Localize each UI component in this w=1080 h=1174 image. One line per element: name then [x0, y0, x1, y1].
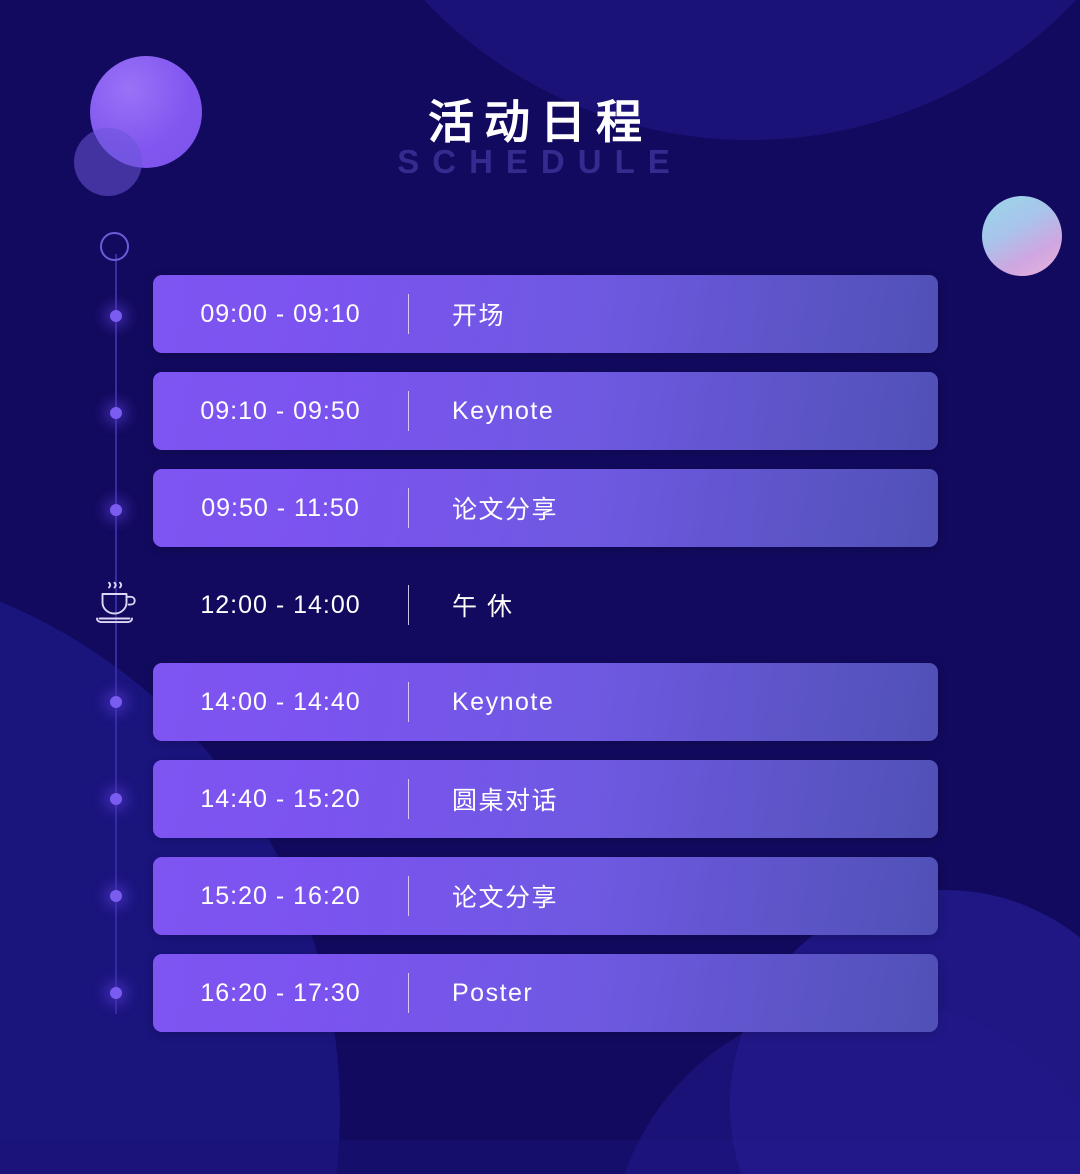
schedule-row-title: Keynote	[409, 688, 554, 717]
schedule-row-time: 09:10 - 09:50	[153, 397, 408, 426]
schedule-row-divider	[408, 585, 409, 625]
schedule-row[interactable]: 16:20 - 17:30Poster	[153, 954, 938, 1032]
timeline-dot	[110, 793, 122, 805]
schedule-row-title: Keynote	[409, 397, 554, 426]
schedule-row-title: 午 休	[409, 587, 513, 623]
background-band-bottom	[0, 1140, 1080, 1174]
schedule-list: 09:00 - 09:10开场09:10 - 09:50Keynote09:50…	[153, 275, 938, 1051]
schedule-row-time: 09:50 - 11:50	[153, 494, 408, 523]
schedule-row[interactable]: 14:40 - 15:20圆桌对话	[153, 760, 938, 838]
page-subtitle: SCHEDULE	[0, 143, 1080, 181]
schedule-row[interactable]: 14:00 - 14:40Keynote	[153, 663, 938, 741]
coffee-cup-icon	[92, 580, 140, 626]
timeline-dot	[110, 310, 122, 322]
schedule-row[interactable]: 09:50 - 11:50论文分享	[153, 469, 938, 547]
schedule-poster: 活动日程 SCHEDULE 09:00 - 09:10开场09:10 -	[0, 0, 1080, 1174]
schedule-row[interactable]: 15:20 - 16:20论文分享	[153, 857, 938, 935]
timeline-dot	[110, 890, 122, 902]
page-title: 活动日程	[0, 96, 1080, 149]
timeline-rail	[100, 232, 132, 1022]
schedule-row-divider	[408, 876, 409, 916]
timeline-dot	[110, 407, 122, 419]
schedule-row-time: 14:00 - 14:40	[153, 688, 408, 717]
schedule-row-divider	[408, 391, 409, 431]
schedule-row[interactable]: 09:10 - 09:50Keynote	[153, 372, 938, 450]
schedule-row-time: 16:20 - 17:30	[153, 979, 408, 1008]
schedule-row-divider	[408, 488, 409, 528]
timeline-dot	[110, 504, 122, 516]
schedule-row-title: 开场	[409, 296, 505, 332]
schedule-row-break[interactable]: 12:00 - 14:00午 休	[153, 566, 938, 644]
timeline-dot	[110, 696, 122, 708]
schedule-row-title: Poster	[409, 979, 533, 1008]
timeline-start-ring-icon	[100, 232, 129, 261]
timeline-dot	[110, 987, 122, 999]
schedule-row-divider	[408, 973, 409, 1013]
schedule-row-divider	[408, 294, 409, 334]
poster-header: 活动日程 SCHEDULE	[0, 96, 1080, 181]
schedule-row-time: 09:00 - 09:10	[153, 300, 408, 329]
schedule-row-title: 论文分享	[409, 490, 558, 526]
schedule-row-title: 圆桌对话	[409, 781, 558, 817]
schedule-row-time: 14:40 - 15:20	[153, 785, 408, 814]
schedule-row-time: 12:00 - 14:00	[153, 591, 408, 620]
schedule-row-divider	[408, 779, 409, 819]
decorative-circle-gradient	[982, 196, 1062, 276]
schedule-row[interactable]: 09:00 - 09:10开场	[153, 275, 938, 353]
schedule-row-divider	[408, 682, 409, 722]
schedule-row-time: 15:20 - 16:20	[153, 882, 408, 911]
schedule-row-title: 论文分享	[409, 878, 558, 914]
